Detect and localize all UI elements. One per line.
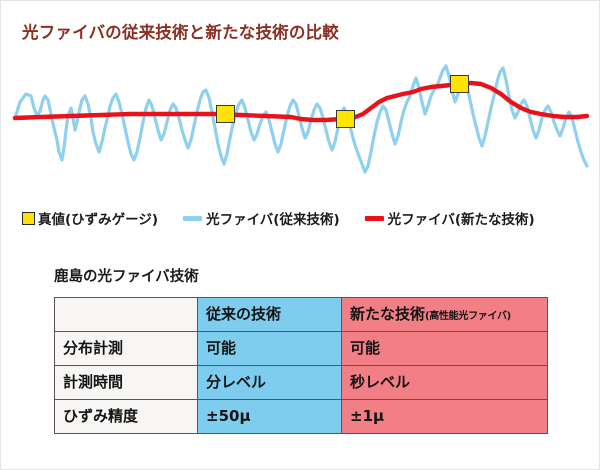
row-new-0: 可能 [342,332,548,366]
legend-label-conventional: 光ファイバ(従来技術) [206,208,340,228]
legend-item-truth: 真値(ひずみゲージ) [22,208,158,228]
yellow-square-icon [22,212,35,225]
row-conventional-0: 可能 [198,332,342,366]
comparison-chart [1,56,600,186]
truth-marker-2 [336,110,355,128]
table-row: 分布計測 可能 可能 [55,332,548,366]
legend-label-new: 光ファイバ(新たな技術) [388,208,535,228]
truth-marker-1 [216,105,235,123]
header-conventional: 従来の技術 [198,298,342,332]
chart-legend: 真値(ひずみゲージ) 光ファイバ(従来技術) 光ファイバ(新たな技術) [1,206,600,230]
row-label-1: 計測時間 [55,366,198,400]
legend-label-truth: 真値(ひずみゲージ) [38,208,158,228]
legend-item-new: 光ファイバ(新たな技術) [365,208,535,228]
row-new-1: 秒レベル [342,366,548,400]
table-header-row: 従来の技術 新たな技術(高性能光ファイバ) [55,298,548,332]
row-new-2: ±1μ [342,400,548,434]
header-new-main: 新たな技術 [350,305,425,323]
row-conventional-1: 分レベル [198,366,342,400]
red-line-icon [365,216,384,221]
row-label-0: 分布計測 [55,332,198,366]
header-new: 新たな技術(高性能光ファイバ) [342,298,548,332]
chart-svg [1,56,600,186]
row-conventional-2: ±50μ [198,400,342,434]
page-title: 光ファイバの従来技術と新たな技術の比較 [22,19,339,43]
table-title: 鹿島の光ファイバ技術 [54,265,199,286]
table-row: ひずみ精度 ±50μ ±1μ [55,400,548,434]
table-row: 計測時間 分レベル 秒レベル [55,366,548,400]
header-new-sub: (高性能光ファイバ) [425,311,511,322]
truth-marker-3 [450,75,469,93]
blue-line-icon [183,216,202,221]
series-new-fiber [15,83,587,120]
row-label-2: ひずみ精度 [55,400,198,434]
tech-comparison-table: 従来の技術 新たな技術(高性能光ファイバ) 分布計測 可能 可能 計測時間 分レ… [54,297,548,434]
page-frame: 光ファイバの従来技術と新たな技術の比較 真値(ひずみゲージ) 光ファイバ(従来技… [0,0,600,470]
legend-item-conventional: 光ファイバ(従来技術) [183,208,340,228]
header-corner-cell [55,298,198,332]
